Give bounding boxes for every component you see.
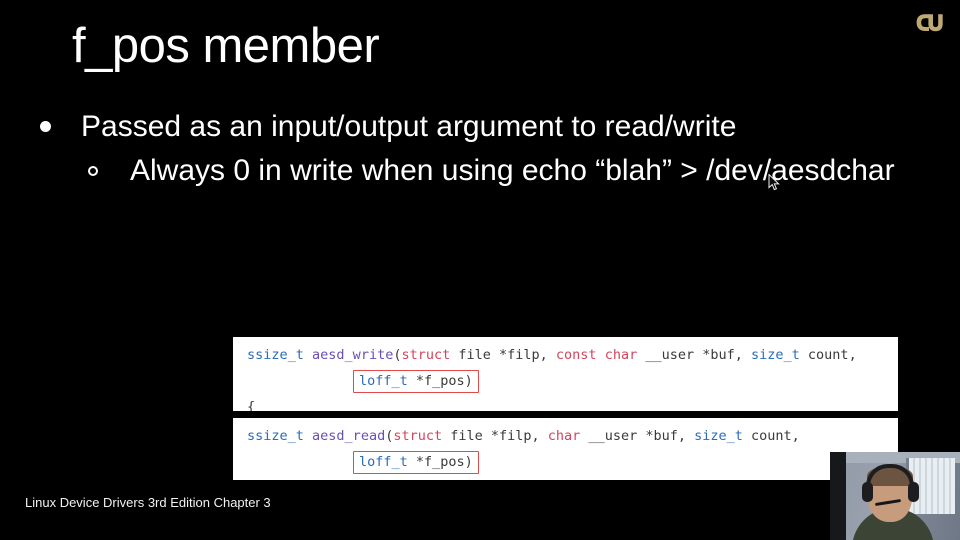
- cu-logo-icon: [912, 9, 946, 37]
- code-token: struct: [393, 428, 442, 444]
- mouse-cursor-icon: [768, 174, 780, 191]
- code-token: count,: [743, 428, 800, 444]
- code-token: __user *buf,: [637, 347, 751, 363]
- code-token: size_t: [751, 347, 800, 363]
- bullet-text-level1: Passed as an input/output argument to re…: [81, 110, 736, 143]
- code-token: *f_pos): [408, 373, 473, 389]
- code-token: loff_t: [359, 373, 408, 389]
- code-signature-line: ssize_t aesd_write(struct file *filp, co…: [247, 342, 898, 368]
- code-token: file *filp,: [442, 428, 548, 444]
- code-signature-line: ssize_t aesd_read(struct file *filp, cha…: [247, 423, 898, 449]
- code-highlight-line: loff_t *f_pos): [247, 449, 898, 475]
- bullet-item-level1: Passed as an input/output argument to re…: [34, 108, 924, 146]
- code-block-aesd-read: ssize_t aesd_read(struct file *filp, cha…: [233, 418, 898, 480]
- webcam-left-dark-edge: [830, 452, 846, 540]
- code-token: count,: [800, 347, 857, 363]
- code-token: char: [605, 347, 638, 363]
- fpos-highlight-box: loff_t *f_pos): [353, 451, 479, 474]
- code-token: file *filp,: [450, 347, 556, 363]
- bullet-circle-icon: [88, 166, 98, 176]
- code-token: const: [556, 347, 597, 363]
- slide-title: f_pos member: [72, 18, 379, 74]
- code-token: struct: [401, 347, 450, 363]
- webcam-headset-earcup-right: [908, 482, 919, 502]
- bullet-disc-icon: [40, 121, 51, 132]
- code-token: size_t: [694, 428, 743, 444]
- code-token: char: [548, 428, 581, 444]
- code-token: *f_pos): [408, 454, 473, 470]
- code-token: ssize_t: [247, 347, 304, 363]
- presenter-webcam-video[interactable]: [830, 452, 960, 540]
- fpos-highlight-box: loff_t *f_pos): [353, 370, 479, 393]
- code-block-aesd-write: ssize_t aesd_write(struct file *filp, co…: [233, 337, 898, 411]
- code-token: [304, 347, 312, 363]
- code-token: ssize_t: [247, 428, 304, 444]
- code-trailing-line: {: [247, 394, 898, 411]
- code-token: [304, 428, 312, 444]
- code-token: [597, 347, 605, 363]
- code-token: aesd_read: [312, 428, 385, 444]
- slide-body: Passed as an input/output argument to re…: [34, 108, 924, 190]
- webcam-headset-earcup-left: [862, 482, 873, 502]
- code-token: aesd_write: [312, 347, 393, 363]
- bullet-item-level2: Always 0 in write when using echo “blah”…: [82, 152, 924, 190]
- slide-footer-citation: Linux Device Drivers 3rd Edition Chapter…: [25, 495, 271, 510]
- code-highlight-line: loff_t *f_pos): [247, 368, 898, 394]
- code-token: __user *buf,: [580, 428, 694, 444]
- code-token: loff_t: [359, 454, 408, 470]
- presentation-slide: f_pos member Passed as an input/output a…: [0, 0, 960, 540]
